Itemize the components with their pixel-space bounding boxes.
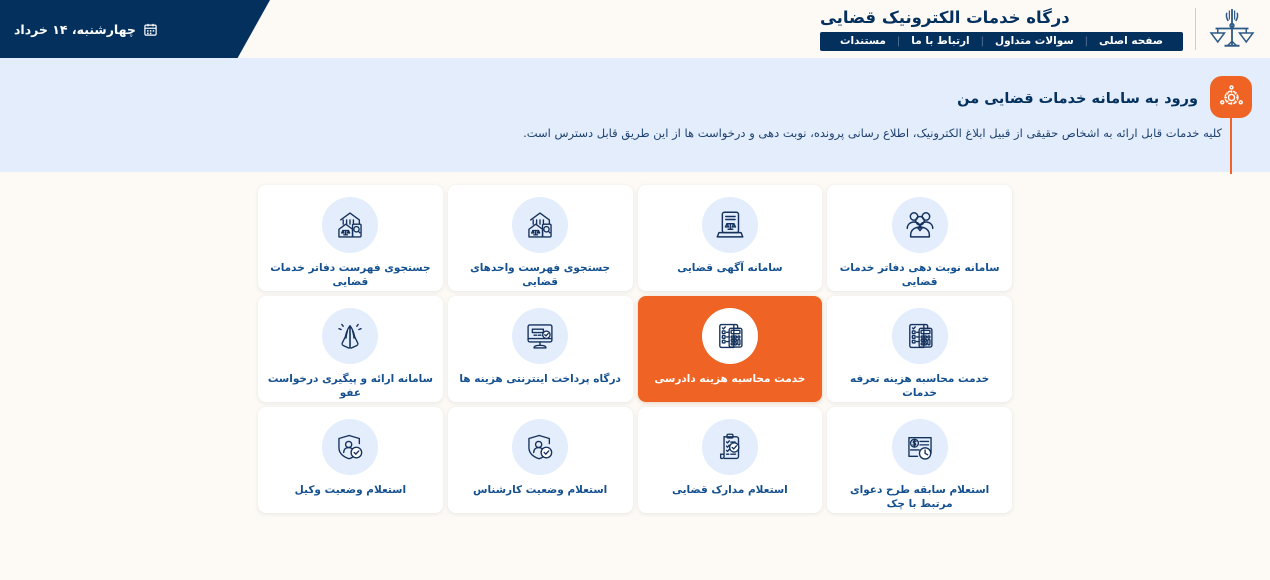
service-card-label: سامانه ارائه و پیگیری درخواست عفو xyxy=(258,373,443,400)
service-card-label: سامانه آگهی قضایی xyxy=(670,262,789,276)
service-card-label: درگاه پرداخت اینترنتی هزینه ها xyxy=(452,373,628,387)
nav-item-faq[interactable]: سوالات متداول xyxy=(984,32,1085,51)
header-date-label: چهارشنبه، ۱۴ خرداد xyxy=(14,22,136,37)
nav-item-contact[interactable]: ارتباط با ما xyxy=(900,32,980,51)
main-navigation[interactable]: صفحه اصلی | سوالات متداول | ارتباط با ما… xyxy=(820,32,1183,51)
service-card-lawyer-status-inquiry[interactable]: استعلام وضعیت وکیل xyxy=(258,407,443,513)
cheque-history-icon xyxy=(892,419,948,475)
service-card-litigation-cost-calculator[interactable]: خدمت محاسبه هزینه دادرسی xyxy=(638,296,823,402)
page-body: سامانه نوبت دهی دفاتر خدمات قضایی سامانه… xyxy=(0,172,1270,580)
praying-hands-icon xyxy=(322,308,378,364)
clipboard-check-icon xyxy=(702,419,758,475)
service-card-label: استعلام سابقه طرح دعوای مرتبط با چک xyxy=(827,484,1012,511)
banner-subtext: کلیه خدمات قابل ارائه به اشخاص حقیقی از … xyxy=(523,126,1222,140)
services-grid: سامانه نوبت دهی دفاتر خدمات قضایی سامانه… xyxy=(258,185,1012,580)
service-card-cheque-lawsuit-history[interactable]: استعلام سابقه طرح دعوای مرتبط با چک xyxy=(827,407,1012,513)
service-card-label: استعلام وضعیت وکیل xyxy=(288,484,413,498)
banner-accent-rule xyxy=(1230,118,1232,174)
shield-person-check-icon xyxy=(512,419,568,475)
service-card-label: خدمت محاسبه هزینه دادرسی xyxy=(647,373,812,387)
nav-separator: | xyxy=(981,32,984,51)
login-banner: ورود به سامانه خدمات قضایی من کلیه خدمات… xyxy=(0,58,1270,172)
service-card-expert-status-inquiry[interactable]: استعلام وضعیت کارشناس xyxy=(448,407,633,513)
users-group-icon xyxy=(892,197,948,253)
service-card-judicial-documents-inquiry[interactable]: استعلام مدارک قضایی xyxy=(638,407,823,513)
service-card-label: جستجوی فهرست دفاتر خدمات قضایی xyxy=(258,262,443,289)
service-card-label: خدمت محاسبه هزینه تعرفه خدمات xyxy=(827,373,1012,400)
service-card-online-payment-gateway[interactable]: درگاه پرداخت اینترنتی هزینه ها xyxy=(448,296,633,402)
service-card-appointment-offices[interactable]: سامانه نوبت دهی دفاتر خدمات قضایی xyxy=(827,185,1012,291)
nav-item-home[interactable]: صفحه اصلی xyxy=(1088,32,1174,51)
courthouse-search-icon xyxy=(512,197,568,253)
service-card-label: سامانه نوبت دهی دفاتر خدمات قضایی xyxy=(827,262,1012,289)
header-divider xyxy=(1195,8,1196,50)
header-title-block: درگاه خدمات الکترونیک قضایی صفحه اصلی | … xyxy=(820,8,1183,51)
nav-separator: | xyxy=(897,32,900,51)
gear-settings-icon xyxy=(1210,76,1252,118)
monitor-payment-icon xyxy=(512,308,568,364)
service-card-search-service-offices[interactable]: جستجوی فهرست دفاتر خدمات قضایی xyxy=(258,185,443,291)
calendar-icon xyxy=(143,22,158,37)
shield-person-check-icon xyxy=(322,419,378,475)
banner-heading: ورود به سامانه خدمات قضایی من xyxy=(957,91,1198,107)
header-brand-area: درگاه خدمات الکترونیک قضایی صفحه اصلی | … xyxy=(890,0,1270,58)
page-title: درگاه خدمات الکترونیک قضایی xyxy=(820,8,1070,27)
site-header: چهارشنبه، ۱۴ خرداد xyxy=(0,0,1270,58)
courthouse-search-icon xyxy=(322,197,378,253)
service-card-judicial-notices[interactable]: سامانه آگهی قضایی xyxy=(638,185,823,291)
calculator-checklist-icon xyxy=(702,308,758,364)
judiciary-scales-emblem-icon xyxy=(1208,6,1256,52)
service-card-pardon-request[interactable]: سامانه ارائه و پیگیری درخواست عفو xyxy=(258,296,443,402)
nav-item-documents[interactable]: مستندات xyxy=(829,32,897,51)
service-card-label: جستجوی فهرست واحدهای قضایی xyxy=(448,262,633,289)
nav-separator: | xyxy=(1085,32,1088,51)
service-card-label: استعلام وضعیت کارشناس xyxy=(466,484,614,498)
header-date: چهارشنبه، ۱۴ خرداد xyxy=(14,0,158,58)
service-card-tariff-cost-calculator[interactable]: خدمت محاسبه هزینه تعرفه خدمات xyxy=(827,296,1012,402)
calculator-checklist-icon xyxy=(892,308,948,364)
service-card-search-judicial-units[interactable]: جستجوی فهرست واحدهای قضایی xyxy=(448,185,633,291)
laptop-justice-icon xyxy=(702,197,758,253)
service-card-label: استعلام مدارک قضایی xyxy=(665,484,795,498)
